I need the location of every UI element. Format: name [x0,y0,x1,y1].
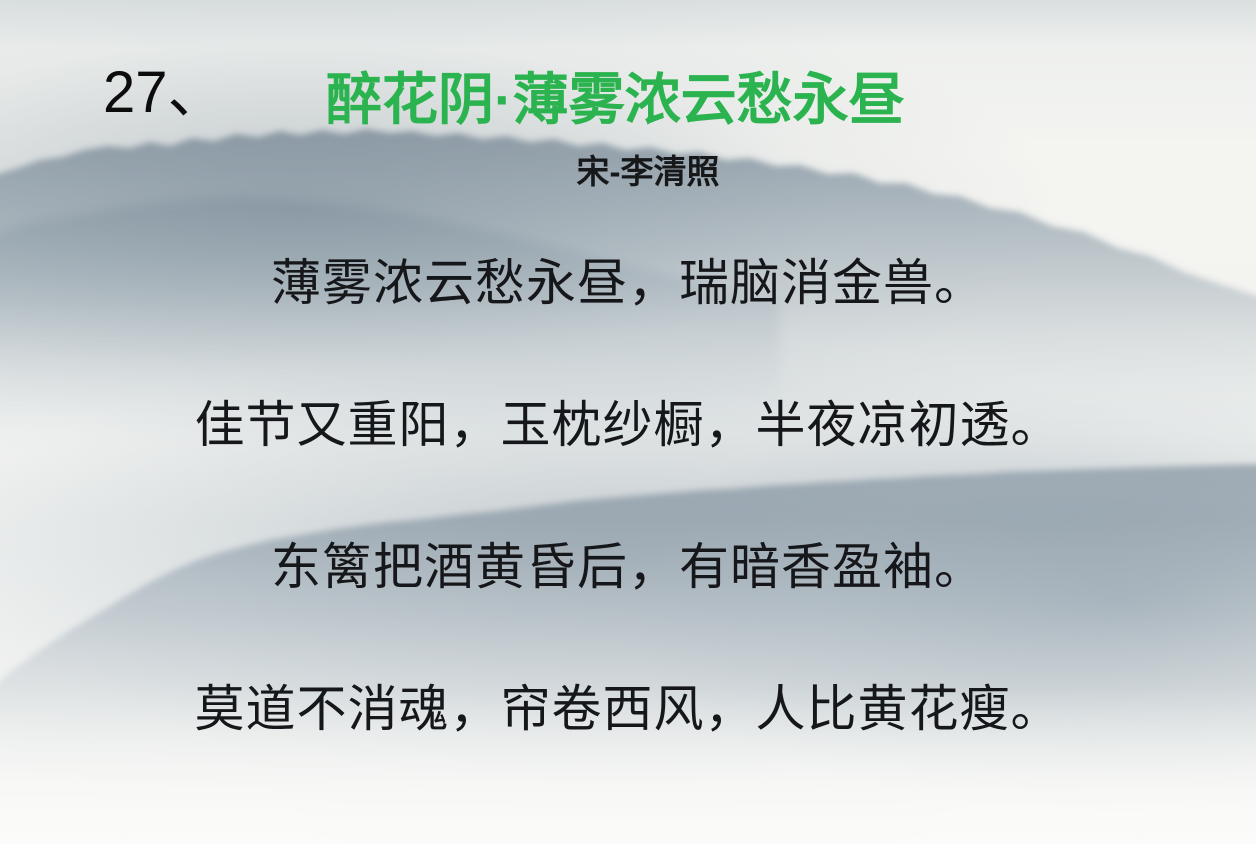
page-title: 醉花阴·薄雾浓云愁永昼 [326,72,905,128]
poem-line: 东篱把酒黄昏后，有暗香盈袖。 [0,542,1256,592]
poem-line: 薄雾浓云愁永昼，瑞脑消金兽。 [0,258,1256,308]
poem-line: 莫道不消魂，帘卷西风，人比黄花瘦。 [0,684,1256,734]
poem-byline: 宋-李清照 [0,152,1256,192]
poem-slide: 27、 醉花阴·薄雾浓云愁永昼 宋-李清照 薄雾浓云愁永昼，瑞脑消金兽。 佳节又… [0,0,1256,844]
poem-line: 佳节又重阳，玉枕纱橱，半夜凉初透。 [0,400,1256,450]
poem-body: 薄雾浓云愁永昼，瑞脑消金兽。 佳节又重阳，玉枕纱橱，半夜凉初透。 东篱把酒黄昏后… [0,258,1256,734]
slide-number: 27、 [103,64,226,122]
